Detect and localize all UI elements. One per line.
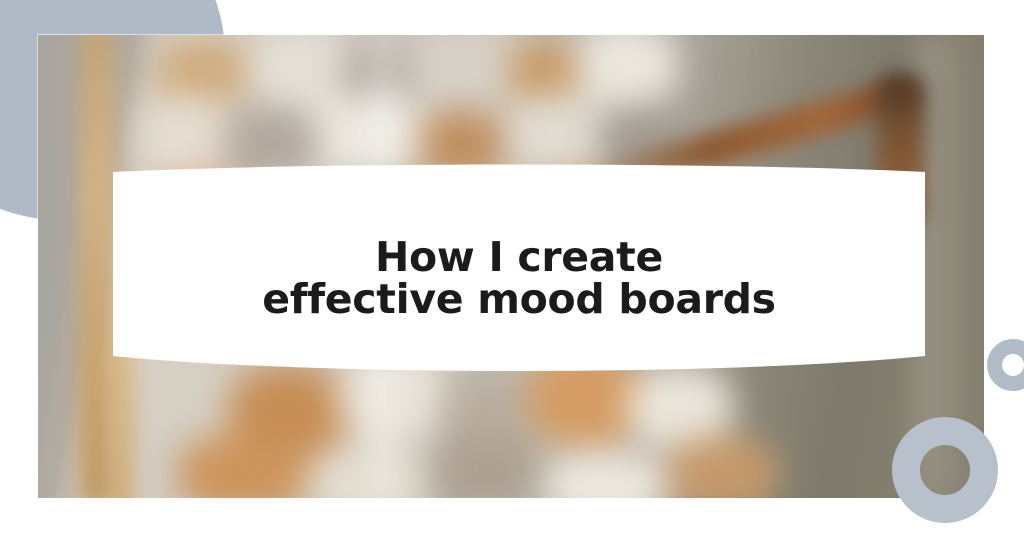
title-card: How I createeffective mood boards [113, 160, 925, 380]
slide-canvas: How I createeffective mood boards [0, 0, 1024, 538]
title-block: How I createeffective mood boards [113, 160, 925, 380]
title-line-2: effective mood boards [262, 279, 776, 321]
page-title: How I createeffective mood boards [262, 219, 776, 321]
decorative-ring-small [987, 339, 1024, 391]
title-line-1: How I create [375, 233, 663, 281]
decorative-ring-large [892, 417, 998, 523]
